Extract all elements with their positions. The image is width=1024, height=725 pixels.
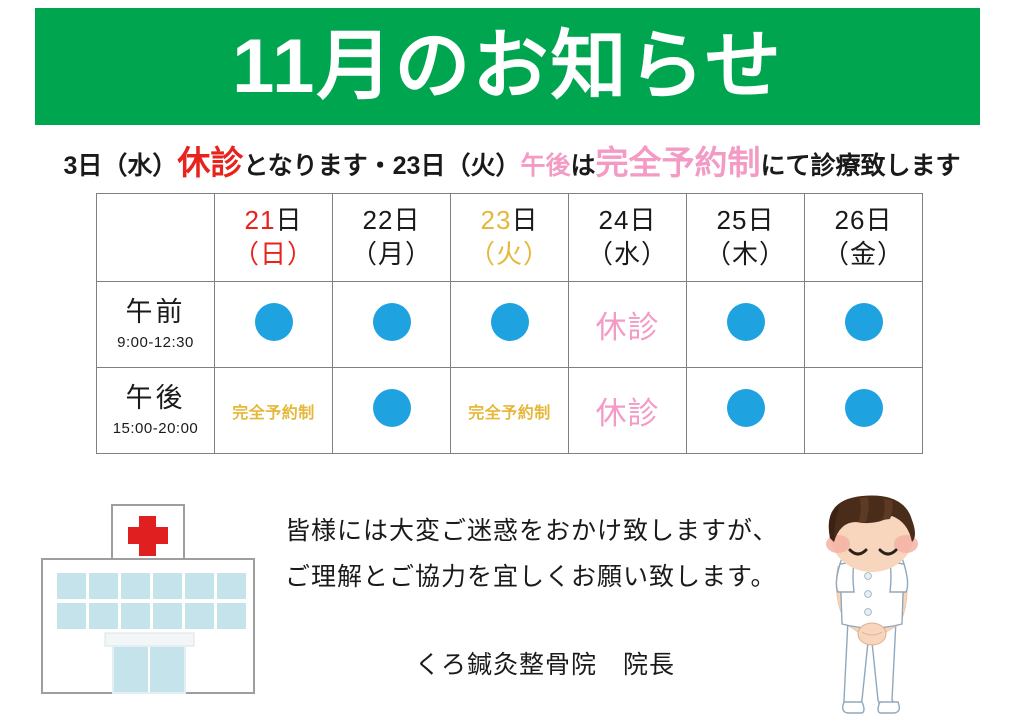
subtitle-part-4: にて診療致します — [760, 152, 960, 180]
apology-message: 皆様には大変ご迷惑をおかけ致しますが、 ご理解とご協力を宜しくお願い致します。 — [285, 508, 805, 601]
cell-afternoon-22 — [333, 368, 451, 454]
open-circle-icon — [845, 303, 883, 341]
open-circle-icon — [491, 303, 529, 341]
day-header-content: 25日 （木） — [687, 204, 804, 271]
day-suffix: 日 — [747, 205, 774, 235]
apology-line-2: ご理解とご協力を宜しくお願い致します。 — [285, 554, 805, 600]
closed-label: 休診 — [596, 396, 660, 431]
day-number: 25 — [717, 205, 748, 235]
hospital-icon — [32, 495, 272, 717]
subtitle-part-reservation: 完全予約制 — [595, 144, 760, 181]
weekday-label: （水） — [587, 239, 668, 269]
table-header-day-25: 25日 （木） — [687, 194, 805, 282]
reservation-only-label: 完全予約制 — [232, 405, 315, 422]
cell-morning-23 — [451, 282, 569, 368]
cell-afternoon-24: 休診 — [569, 368, 687, 454]
subtitle-part-3: は — [570, 152, 595, 180]
day-suffix: 日 — [865, 205, 892, 235]
closed-label: 休診 — [596, 310, 660, 345]
period-name: 午前 — [97, 298, 214, 326]
day-number: 23 — [481, 205, 512, 235]
day-header-content: 22日 （月） — [333, 204, 450, 271]
day-number: 21 — [245, 205, 276, 235]
day-number: 22 — [363, 205, 394, 235]
period-hours: 9:00-12:30 — [97, 334, 214, 351]
cell-morning-24: 休診 — [569, 282, 687, 368]
open-circle-icon — [255, 303, 293, 341]
open-circle-icon — [727, 389, 765, 427]
cell-morning-26 — [805, 282, 923, 368]
period-label-morning: 午前 9:00-12:30 — [97, 282, 215, 368]
weekday-label: （月） — [351, 239, 432, 269]
day-number: 24 — [599, 205, 630, 235]
table-header-row: 21日 （日） 22日 （月） 23日 （火） 24日 （水） — [97, 194, 923, 282]
weekday-label: （日） — [233, 239, 314, 269]
bowing-practitioner-illustration — [800, 492, 960, 720]
period-name: 午後 — [97, 384, 214, 412]
subtitle-part-afternoon: 午後 — [520, 152, 570, 180]
day-header-content: 26日 （金） — [805, 204, 922, 271]
period-label-afternoon: 午後 15:00-20:00 — [97, 368, 215, 454]
table-header-day-21: 21日 （日） — [215, 194, 333, 282]
subtitle-part-2: となります・23日（火） — [243, 152, 520, 180]
cell-afternoon-25 — [687, 368, 805, 454]
table-row-afternoon: 午後 15:00-20:00 完全予約制 完全予約制 休診 — [97, 368, 923, 454]
clinic-signature: くろ鍼灸整骨院 院長 — [285, 645, 805, 681]
apology-line-1: 皆様には大変ご迷惑をおかけ致しますが、 — [285, 508, 805, 554]
weekday-label: （金） — [823, 239, 904, 269]
cell-afternoon-26 — [805, 368, 923, 454]
day-suffix: 日 — [275, 205, 302, 235]
table-corner-cell — [97, 194, 215, 282]
day-number: 26 — [835, 205, 866, 235]
table-header-day-22: 22日 （月） — [333, 194, 451, 282]
day-header-content: 21日 （日） — [215, 204, 332, 271]
page-title: 11月のお知らせ — [232, 29, 783, 105]
weekday-label: （火） — [469, 239, 550, 269]
bowing-person-icon — [800, 492, 960, 720]
day-header-content: 23日 （火） — [451, 204, 568, 271]
open-circle-icon — [373, 303, 411, 341]
notice-subtitle: 3日（水）休診となります・23日（火）午後は完全予約制にて診療致します — [0, 145, 1024, 181]
day-suffix: 日 — [393, 205, 420, 235]
cell-morning-25 — [687, 282, 805, 368]
open-circle-icon — [727, 303, 765, 341]
reservation-only-label: 完全予約制 — [468, 405, 551, 422]
cell-morning-21 — [215, 282, 333, 368]
hospital-building-illustration — [32, 495, 272, 717]
weekday-label: （木） — [705, 239, 786, 269]
period-hours: 15:00-20:00 — [97, 420, 214, 437]
table-header-day-26: 26日 （金） — [805, 194, 923, 282]
cell-morning-22 — [333, 282, 451, 368]
table-header-day-24: 24日 （水） — [569, 194, 687, 282]
table-header-day-23: 23日 （火） — [451, 194, 569, 282]
cell-afternoon-23: 完全予約制 — [451, 368, 569, 454]
table-row-morning: 午前 9:00-12:30 休診 — [97, 282, 923, 368]
day-header-content: 24日 （水） — [569, 204, 686, 271]
day-suffix: 日 — [511, 205, 538, 235]
day-suffix: 日 — [629, 205, 656, 235]
subtitle-part-closed: 休診 — [177, 144, 243, 181]
header-banner: 11月のお知らせ — [35, 8, 980, 125]
cell-afternoon-21: 完全予約制 — [215, 368, 333, 454]
subtitle-part-1: 3日（水） — [63, 152, 177, 180]
open-circle-icon — [373, 389, 411, 427]
schedule-table: 21日 （日） 22日 （月） 23日 （火） 24日 （水） — [96, 193, 923, 454]
open-circle-icon — [845, 389, 883, 427]
